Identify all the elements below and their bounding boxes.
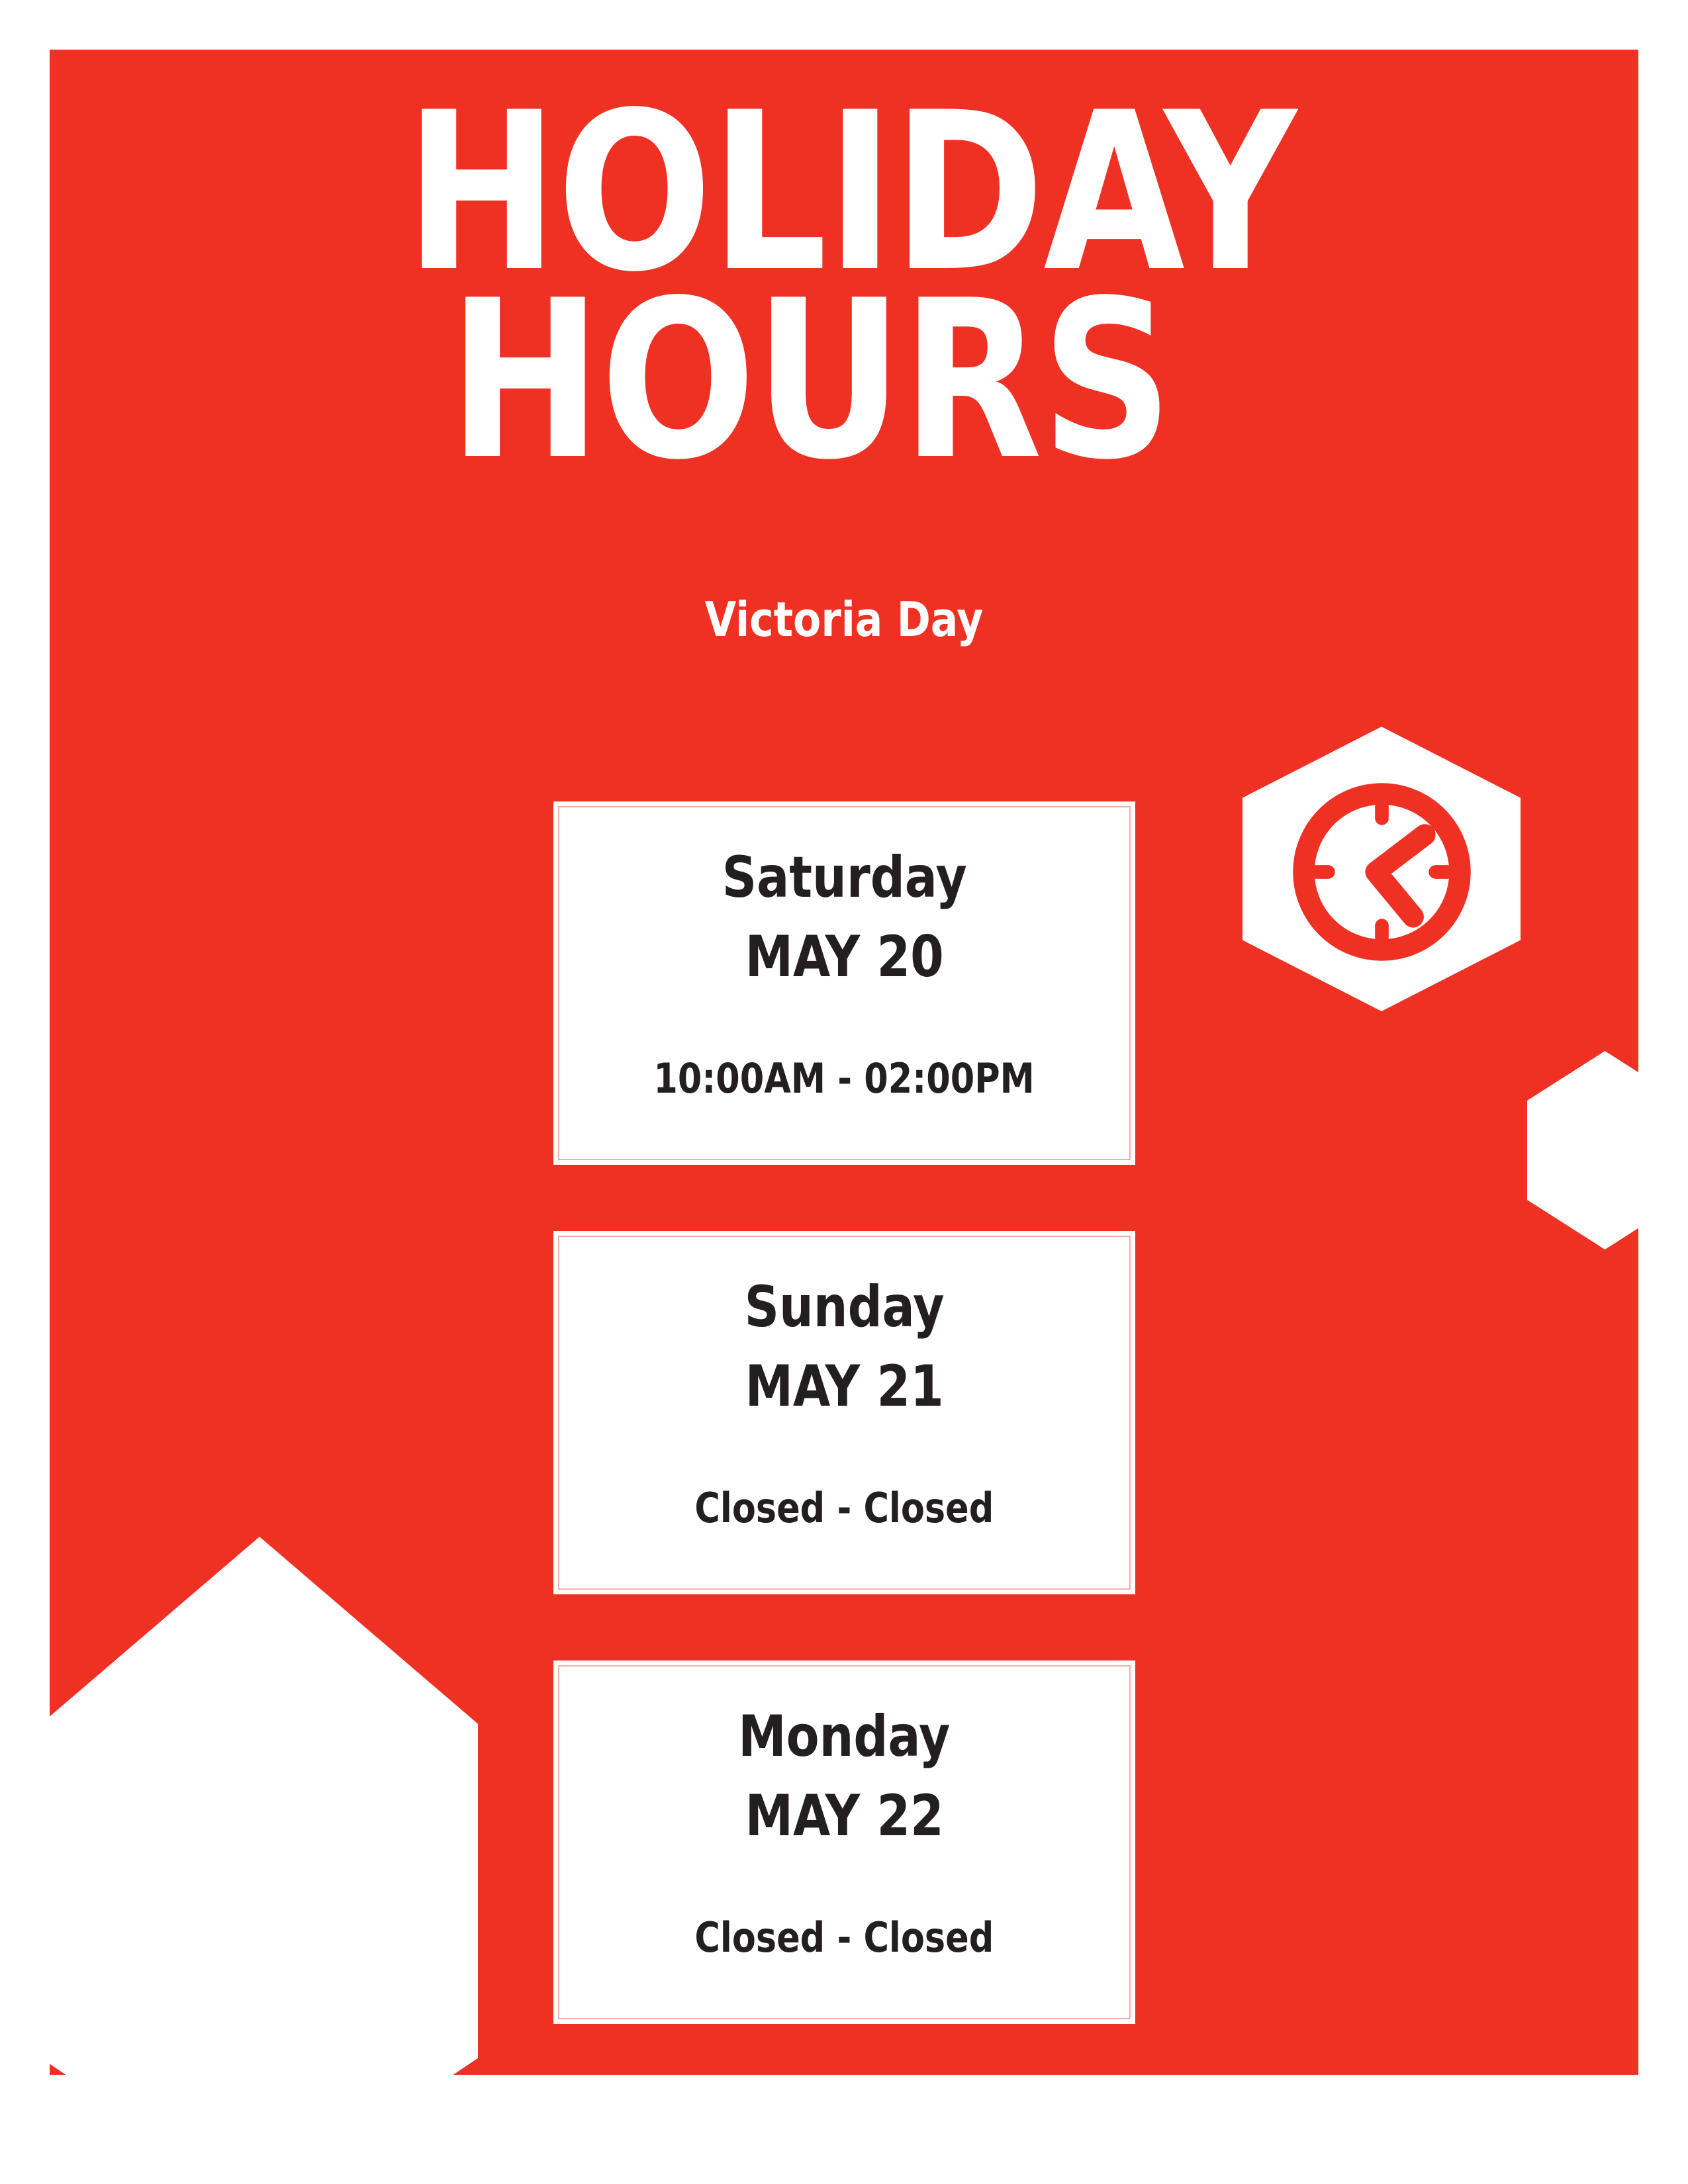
card-day-label: Saturday: [722, 849, 967, 906]
card-hours-label: Closed - Closed: [695, 1488, 994, 1529]
card-hours-label: Closed - Closed: [695, 1917, 994, 1958]
subtitle-holiday-name: Victoria Day: [89, 596, 1599, 643]
schedule-card: Monday MAY 22 Closed - Closed: [553, 1661, 1135, 2024]
card-date-label: MAY 21: [745, 1358, 943, 1415]
schedule-card: Saturday MAY 20 10:00AM - 02:00PM: [553, 801, 1135, 1165]
title-line-hours: HOURS: [105, 287, 1583, 475]
card-day-label: Monday: [738, 1708, 950, 1765]
card-day-label: Sunday: [744, 1279, 944, 1336]
page-title: HOLIDAY HOURS: [50, 99, 1638, 475]
card-hours-label: 10:00AM - 02:00PM: [654, 1058, 1035, 1099]
schedule-list: Saturday MAY 20 10:00AM - 02:00PM Sunday…: [553, 801, 1135, 2024]
clock-icon: [1284, 774, 1479, 970]
card-date-label: MAY 22: [745, 1788, 943, 1844]
card-date-label: MAY 20: [745, 929, 943, 985]
schedule-card: Sunday MAY 21 Closed - Closed: [553, 1231, 1135, 1594]
holiday-hours-poster: HOLIDAY HOURS Victoria Day Saturday MAY …: [0, 0, 1688, 2184]
